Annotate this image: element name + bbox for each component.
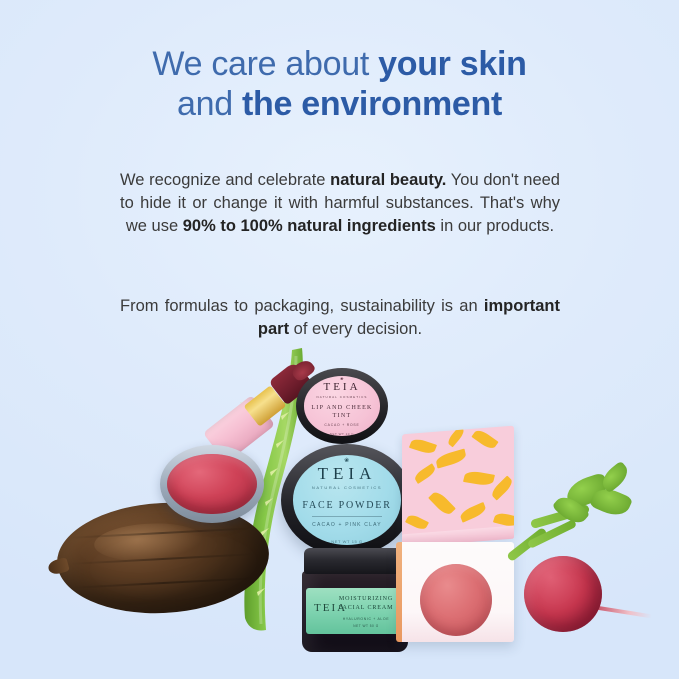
powder-weight: NET WT 15 G — [331, 539, 363, 544]
promo-banner: We care about your skin and the environm… — [0, 0, 679, 679]
body-paragraph-1: We recognize and celebrate natural beaut… — [120, 169, 560, 239]
radish — [500, 460, 650, 650]
page-title: We care about your skin and the environm… — [0, 44, 679, 124]
p1-seg3: in our products. — [436, 217, 554, 235]
radish-bulb — [524, 556, 602, 632]
open-balm-tin — [160, 445, 264, 523]
tint-brand-sub: NATURAL COSMETICS — [316, 395, 367, 399]
p1-bold-natural-beauty: natural beauty. — [330, 171, 446, 189]
headline-line-1-bold: your skin — [378, 45, 526, 83]
powder-product-name: FACE POWDER — [302, 500, 391, 511]
lip-and-cheek-tint-tin: ❀ TEIA NATURAL COSMETICS LIP AND CHEEK T… — [296, 368, 388, 444]
compact-lid — [402, 426, 514, 543]
compact-side-edge — [396, 542, 402, 642]
headline-line-2: and the environment — [0, 84, 679, 124]
headline-line-2-bold: the environment — [242, 85, 502, 123]
cream-brand-name: TEIA — [314, 602, 347, 614]
tint-weight: NET WT 10 G — [330, 432, 354, 436]
p1-seg1: We recognize and celebrate — [120, 171, 330, 189]
p2-seg2: of every decision. — [289, 320, 422, 338]
tint-brand-name: TEIA — [323, 382, 360, 393]
headline-line-1-light: We care about — [152, 45, 378, 83]
body-paragraph-2: From formulas to packaging, sustainabili… — [120, 295, 560, 342]
p1-bold-natural-ingredients: 90% to 100% natural ingredients — [183, 217, 436, 235]
powder-label-divider — [312, 516, 381, 517]
powder-ingredients: CACAO + PINK CLAY — [312, 522, 382, 528]
powder-brand-sub: NATURAL COSMETICS — [312, 485, 382, 490]
cream-ingredients: HYALURONIC + ALOE — [343, 617, 390, 621]
blush-pan — [420, 564, 492, 636]
headline-line-1: We care about your skin — [0, 44, 679, 84]
tint-ingredients: CACAO + ROSE — [324, 423, 359, 427]
cream-weight: NET WT 50 G — [353, 624, 378, 628]
blush-compact — [396, 430, 516, 644]
balm-tin-product — [167, 454, 256, 515]
jar-lid — [304, 548, 406, 574]
headline-line-2-light: and — [177, 85, 242, 123]
p2-seg1: From formulas to packaging, sustainabili… — [120, 297, 484, 315]
tint-product-name: LIP AND CHEEK TINT — [304, 404, 379, 420]
facial-cream-jar: TEIA MOISTURIZING FACIAL CREAM HYALURONI… — [302, 548, 408, 652]
radish-root — [596, 606, 652, 619]
brand-mark-icon: ❀ — [344, 457, 350, 464]
jar-label: TEIA MOISTURIZING FACIAL CREAM HYALURONI… — [306, 588, 404, 634]
powder-brand-name: TEIA — [318, 465, 377, 482]
face-powder-tin: ❀ TEIA NATURAL COSMETICS FACE POWDER CAC… — [281, 444, 413, 556]
product-scene: ❀ TEIA NATURAL COSMETICS LIP AND CHEEK T… — [0, 340, 679, 679]
